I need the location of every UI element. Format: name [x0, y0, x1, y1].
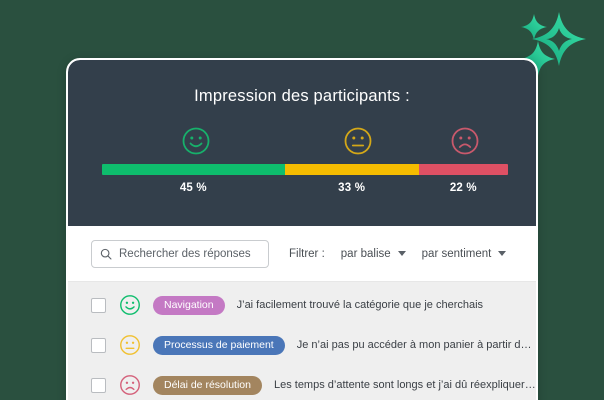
smiley-neutral-icon — [343, 126, 373, 156]
bar-segment-neutral — [285, 164, 419, 175]
response-text: Je n’ai pas pu accéder à mon panier à pa… — [297, 339, 536, 351]
bar-segment-sad — [419, 164, 508, 175]
sentiment-summary-card: Impression des participants : — [68, 60, 536, 226]
response-text: Les temps d’attente sont longs et j’ai d… — [274, 379, 536, 391]
search-icon — [100, 248, 112, 260]
smiley-sad-icon — [450, 126, 480, 156]
summary-title: Impression des participants : — [68, 60, 536, 106]
chevron-down-icon — [398, 251, 406, 256]
filter-label: Filtrer : — [289, 248, 325, 260]
response-tag-badge[interactable]: Processus de paiement — [153, 336, 285, 355]
search-field[interactable] — [91, 240, 269, 268]
responses-list: NavigationJ’ai facilement trouvé la caté… — [68, 282, 536, 400]
response-tag-badge[interactable]: Délai de résolution — [153, 376, 262, 395]
smiley-neutral-icon — [119, 334, 141, 356]
smiley-happy-icon — [181, 126, 211, 156]
filter-by-tag-label: par balise — [341, 248, 391, 260]
filter-by-sentiment-dropdown[interactable]: par sentiment — [422, 248, 507, 260]
response-row[interactable]: Délai de résolutionLes temps d’attente s… — [68, 365, 536, 400]
bar-segment-happy — [102, 164, 285, 175]
sentiment-face-row — [68, 126, 536, 160]
results-toolbar: Filtrer : par balise par sentiment — [68, 226, 536, 282]
search-input[interactable] — [119, 248, 260, 260]
percent-label-neutral: 33 % — [338, 182, 365, 194]
filter-by-tag-dropdown[interactable]: par balise — [341, 248, 406, 260]
smiley-sad-icon — [119, 374, 141, 396]
response-text: J’ai facilement trouvé la catégorie que … — [237, 299, 483, 311]
smiley-happy-icon — [119, 294, 141, 316]
row-checkbox[interactable] — [91, 378, 106, 393]
response-row[interactable]: NavigationJ’ai facilement trouvé la caté… — [68, 285, 536, 325]
sentiment-distribution-bar — [102, 164, 508, 175]
response-tag-badge[interactable]: Navigation — [153, 296, 225, 315]
percent-label-sad: 22 % — [450, 182, 477, 194]
row-checkbox[interactable] — [91, 338, 106, 353]
chevron-down-icon — [498, 251, 506, 256]
sentiment-percent-labels: 45 %33 %22 % — [102, 182, 508, 200]
row-checkbox[interactable] — [91, 298, 106, 313]
response-row[interactable]: Processus de paiementJe n’ai pas pu accé… — [68, 325, 536, 365]
percent-label-happy: 45 % — [180, 182, 207, 194]
filter-by-sentiment-label: par sentiment — [422, 248, 492, 260]
survey-results-panel: Impression des participants : — [66, 58, 538, 400]
